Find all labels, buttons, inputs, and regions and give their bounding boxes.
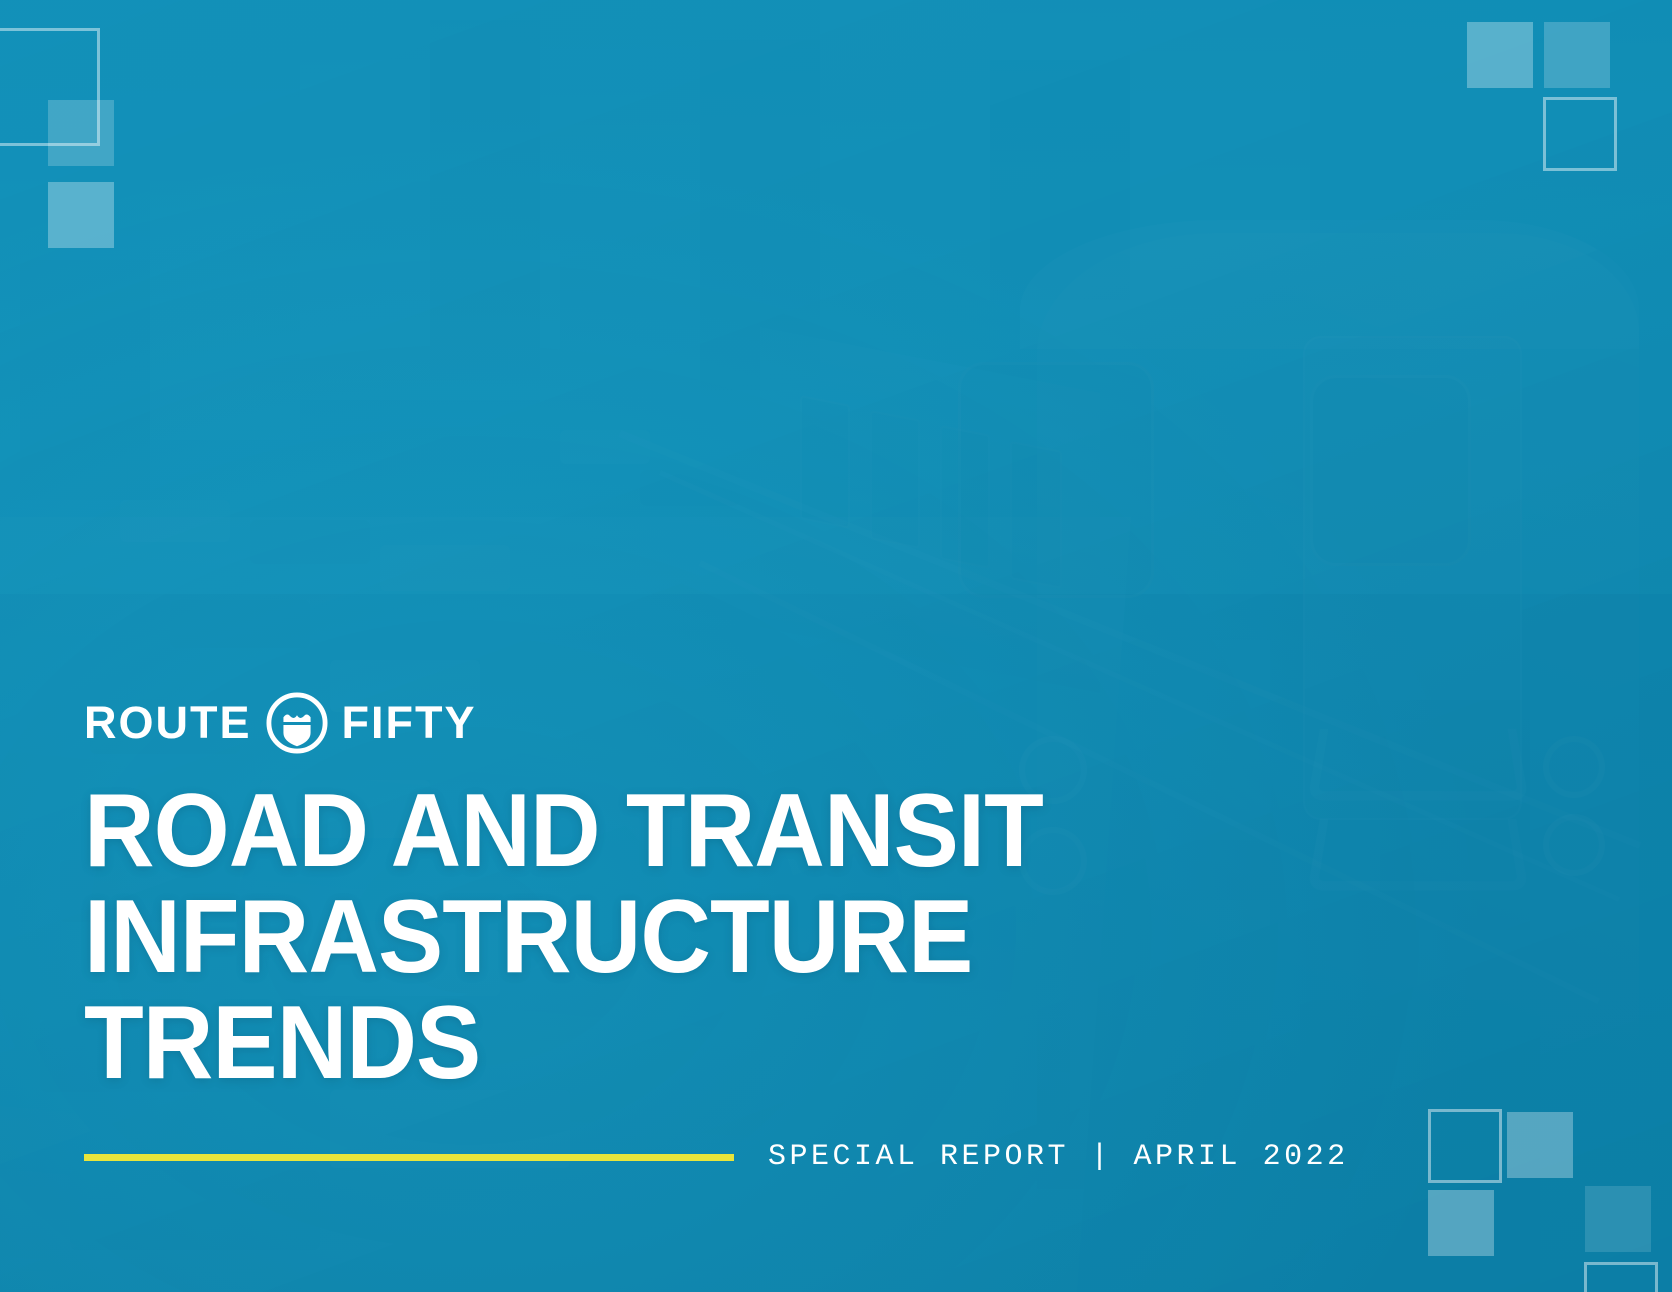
cover-footer: SPECIAL REPORT | APRIL 2022: [84, 1140, 1384, 1174]
top-left-filled-square-1: [48, 100, 114, 166]
bottom-right-filled-square-1: [1507, 1112, 1573, 1178]
highway-shield-badge-icon: [266, 692, 328, 754]
logo-word-fifty: FIFTY: [342, 700, 477, 745]
page-title-line-1: ROAD AND TRANSIT: [84, 778, 1306, 884]
report-cover-page: ROUTE FIFTY ROAD AND TRANSIT INFRASTRUCT…: [0, 0, 1672, 1292]
top-right-filled-square-2: [1544, 22, 1610, 88]
top-right-outline-square: [1543, 97, 1617, 171]
bottom-right-outline-square-2: [1584, 1262, 1658, 1292]
bottom-right-filled-square-2: [1428, 1190, 1494, 1256]
cover-content: ROUTE FIFTY ROAD AND TRANSIT INFRASTRUCT…: [84, 694, 1384, 1174]
bottom-right-outline-square: [1428, 1109, 1502, 1183]
page-title-line-2: INFRASTRUCTURE TRENDS: [84, 884, 1306, 1096]
report-meta-label: SPECIAL REPORT | APRIL 2022: [768, 1140, 1349, 1174]
route-fifty-logo[interactable]: ROUTE FIFTY: [84, 694, 1384, 752]
top-right-filled-square-1: [1467, 22, 1533, 88]
logo-word-route: ROUTE: [84, 700, 252, 745]
page-title: ROAD AND TRANSIT INFRASTRUCTURE TRENDS: [84, 778, 1306, 1096]
top-left-filled-square-2: [48, 182, 114, 248]
accent-rule: [84, 1154, 734, 1161]
bottom-right-filled-square-3: [1585, 1186, 1651, 1252]
